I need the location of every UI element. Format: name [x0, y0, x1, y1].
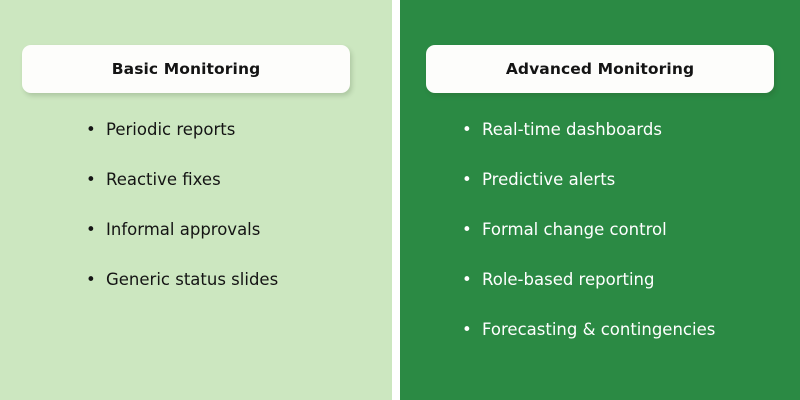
basic-monitoring-title: Basic Monitoring	[112, 60, 261, 78]
advanced-monitoring-list: • Real-time dashboards • Predictive aler…	[462, 118, 715, 368]
list-item-label: Periodic reports	[106, 120, 235, 139]
list-item: • Generic status slides	[86, 268, 278, 318]
bullet-icon: •	[462, 318, 474, 342]
bullet-icon: •	[462, 268, 474, 292]
list-item: • Role-based reporting	[462, 268, 715, 318]
bullet-icon: •	[462, 118, 474, 142]
list-item-label: Role-based reporting	[482, 270, 654, 289]
panel-basic-monitoring: Basic Monitoring • Periodic reports • Re…	[0, 0, 392, 400]
panel-divider	[392, 0, 400, 400]
basic-monitoring-list: • Periodic reports • Reactive fixes • In…	[86, 118, 278, 318]
list-item-label: Generic status slides	[106, 270, 278, 289]
list-item-label: Formal change control	[482, 220, 667, 239]
list-item-label: Real-time dashboards	[482, 120, 662, 139]
bullet-icon: •	[86, 168, 98, 192]
list-item-label: Informal approvals	[106, 220, 260, 239]
comparison-slide: Basic Monitoring • Periodic reports • Re…	[0, 0, 800, 400]
list-item-label: Predictive alerts	[482, 170, 615, 189]
advanced-monitoring-header-card: Advanced Monitoring	[426, 45, 774, 93]
bullet-icon: •	[462, 168, 474, 192]
list-item: • Forecasting & contingencies	[462, 318, 715, 368]
list-item-label: Forecasting & contingencies	[482, 320, 715, 339]
list-item: • Predictive alerts	[462, 168, 715, 218]
list-item: • Informal approvals	[86, 218, 278, 268]
advanced-monitoring-title: Advanced Monitoring	[506, 60, 694, 78]
bullet-icon: •	[86, 118, 98, 142]
list-item: • Periodic reports	[86, 118, 278, 168]
bullet-icon: •	[86, 218, 98, 242]
basic-monitoring-header-card: Basic Monitoring	[22, 45, 350, 93]
list-item: • Formal change control	[462, 218, 715, 268]
bullet-icon: •	[462, 218, 474, 242]
bullet-icon: •	[86, 268, 98, 292]
panel-advanced-monitoring: Advanced Monitoring • Real-time dashboar…	[400, 0, 800, 400]
list-item: • Reactive fixes	[86, 168, 278, 218]
list-item-label: Reactive fixes	[106, 170, 221, 189]
list-item: • Real-time dashboards	[462, 118, 715, 168]
